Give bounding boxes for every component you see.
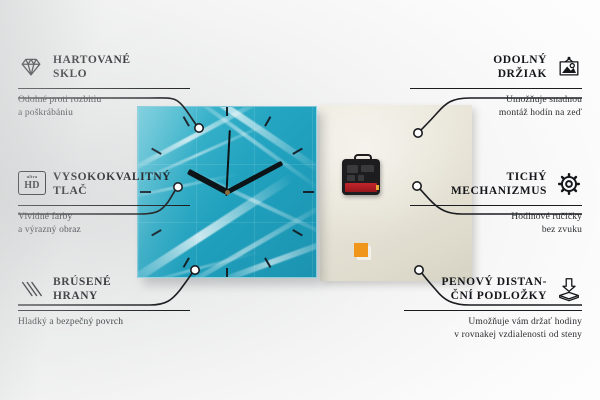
hour-tick	[226, 106, 228, 116]
feature-description: Vividné farby a výrazný obraz	[18, 211, 190, 236]
feature-rule	[404, 310, 582, 311]
clock-mechanism	[342, 159, 380, 195]
mechanism-detail	[347, 175, 355, 181]
mechanism-hook	[354, 154, 372, 163]
feature-foam-spacers: PENOVÝ DISTAN- ČNÍ PODLOŽKY Umožňuje vám…	[404, 272, 582, 341]
feature-description: Hladký a bezpečný povrch	[18, 316, 190, 329]
feature-title: BRÚSENÉ HRANY	[53, 275, 111, 303]
feature-description: Umožňuje snadnou montáž hodín na zeď	[410, 94, 582, 119]
feature-tempered-glass: HARTOVANÉ SKLO Odolné proti rozbitiu a p…	[18, 50, 190, 119]
feature-rule	[18, 310, 190, 311]
feature-silent-mechanism: TICHÝ MECHANIZMUS Hodinové ručičky bez z…	[410, 167, 582, 236]
foam-spacer-icon	[556, 276, 582, 302]
feature-heading: ultra HD VYSOKOKVALITNÝ TLAČ	[18, 167, 190, 201]
clock-pivot	[225, 190, 230, 195]
foam-spacer-pad	[354, 243, 368, 257]
feature-durable-hanger: ODOLNÝ DRŽIAK Umožňuje snadnou montáž ho…	[410, 50, 582, 119]
infographic-canvas: HARTOVANÉ SKLO Odolné proti rozbitiu a p…	[0, 0, 600, 400]
feature-description: Hodinové ručičky bez zvuku	[410, 211, 582, 236]
mechanism-battery	[345, 183, 377, 192]
feature-title: HARTOVANÉ SKLO	[53, 53, 131, 81]
feature-title: ODOLNÝ DRŽIAK	[493, 53, 547, 81]
feature-heading: PENOVÝ DISTAN- ČNÍ PODLOŽKY	[404, 272, 582, 306]
diamond-icon	[18, 54, 44, 80]
feature-title: TICHÝ MECHANIZMUS	[451, 170, 547, 198]
feature-rule	[18, 88, 190, 89]
picture-frame-hanger-icon	[556, 54, 582, 80]
feature-heading: TICHÝ MECHANIZMUS	[410, 167, 582, 201]
mechanism-detail	[358, 175, 364, 181]
feature-heading: HARTOVANÉ SKLO	[18, 50, 190, 84]
feature-rule	[410, 205, 582, 206]
feature-high-quality-print: ultra HD VYSOKOKVALITNÝ TLAČ Vividné far…	[18, 167, 190, 236]
polished-edges-icon	[18, 276, 44, 302]
mechanism-detail	[361, 165, 374, 172]
feature-rule	[410, 88, 582, 89]
feature-polished-edges: BRÚSENÉ HRANY Hladký a bezpečný povrch	[18, 272, 190, 329]
hour-tick	[226, 268, 228, 278]
feature-title: VYSOKOKVALITNÝ TLAČ	[53, 170, 171, 198]
ultra-hd-badge-icon: ultra HD	[18, 171, 44, 197]
feature-title: PENOVÝ DISTAN- ČNÍ PODLOŽKY	[441, 275, 547, 303]
feature-heading: ODOLNÝ DRŽIAK	[410, 50, 582, 84]
feature-description: Umožňuje vám držať hodiny v rovnakej vzd…	[404, 316, 582, 341]
badge-main-label: HD	[24, 181, 40, 191]
feature-heading: BRÚSENÉ HRANY	[18, 272, 190, 306]
mechanism-detail	[347, 165, 358, 173]
gear-icon	[556, 171, 582, 197]
feature-rule	[18, 205, 190, 206]
feature-description: Odolné proti rozbitiu a poškrábániu	[18, 94, 190, 119]
hour-tick	[303, 191, 314, 193]
